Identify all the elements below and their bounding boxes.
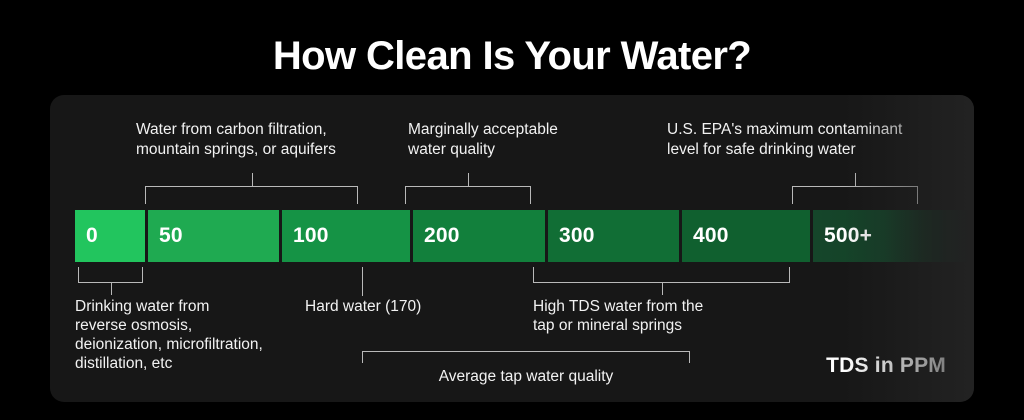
bracket-stem [468, 173, 469, 187]
annotation-top-carbon-filtration: Water from carbon filtration, mountain s… [136, 120, 386, 160]
scale-segment-label: 0 [86, 224, 98, 248]
bracket-bottom-ro-water [78, 267, 143, 283]
bracket-stem [252, 173, 253, 187]
bracket-stem [111, 282, 112, 295]
bracket-top-marginally-acceptable [405, 186, 531, 204]
annotation-top-epa-limit: U.S. EPA's maximum contaminant level for… [667, 120, 967, 160]
scale-segment-label: 100 [293, 224, 329, 248]
scale-segment-0: 0 [75, 210, 145, 262]
unit-label: TDS in PPM [826, 354, 946, 378]
annotation-bottom-high-tds: High TDS water from the tap or mineral s… [533, 297, 803, 335]
bracket-bottom-high-tds [533, 267, 790, 283]
bracket-average-tap-water [362, 351, 690, 363]
scale-segment-50: 50 [148, 210, 279, 262]
page-title: How Clean Is Your Water? [0, 34, 1024, 79]
scale-segment-label: 500+ [824, 224, 872, 248]
scale-segment-300: 300 [548, 210, 679, 262]
scale-segment-label: 200 [424, 224, 460, 248]
chart-panel: Water from carbon filtration, mountain s… [50, 95, 974, 402]
annotation-top-marginally-acceptable: Marginally acceptable water quality [408, 120, 628, 160]
annotation-bottom-hard-water: Hard water (170) [305, 297, 505, 316]
bracket-top-carbon-filtration [145, 186, 358, 204]
scale-segment-100: 100 [282, 210, 410, 262]
bracket-top-epa-limit [792, 186, 918, 204]
scale-segment-label: 300 [559, 224, 595, 248]
tds-scale-bar: 0 50 100 200 300 400 500+ [75, 210, 974, 262]
infographic-canvas: How Clean Is Your Water? Water from carb… [0, 0, 1024, 420]
bracket-stem [662, 282, 663, 295]
scale-segment-label: 400 [693, 224, 729, 248]
scale-segment-500plus: 500+ [813, 210, 973, 262]
annotation-average-tap-water: Average tap water quality [362, 367, 690, 386]
marker-line-hard-water [362, 267, 363, 296]
bracket-stem [855, 173, 856, 187]
scale-segment-label: 50 [159, 224, 183, 248]
scale-segment-400: 400 [682, 210, 810, 262]
scale-segment-200: 200 [413, 210, 545, 262]
